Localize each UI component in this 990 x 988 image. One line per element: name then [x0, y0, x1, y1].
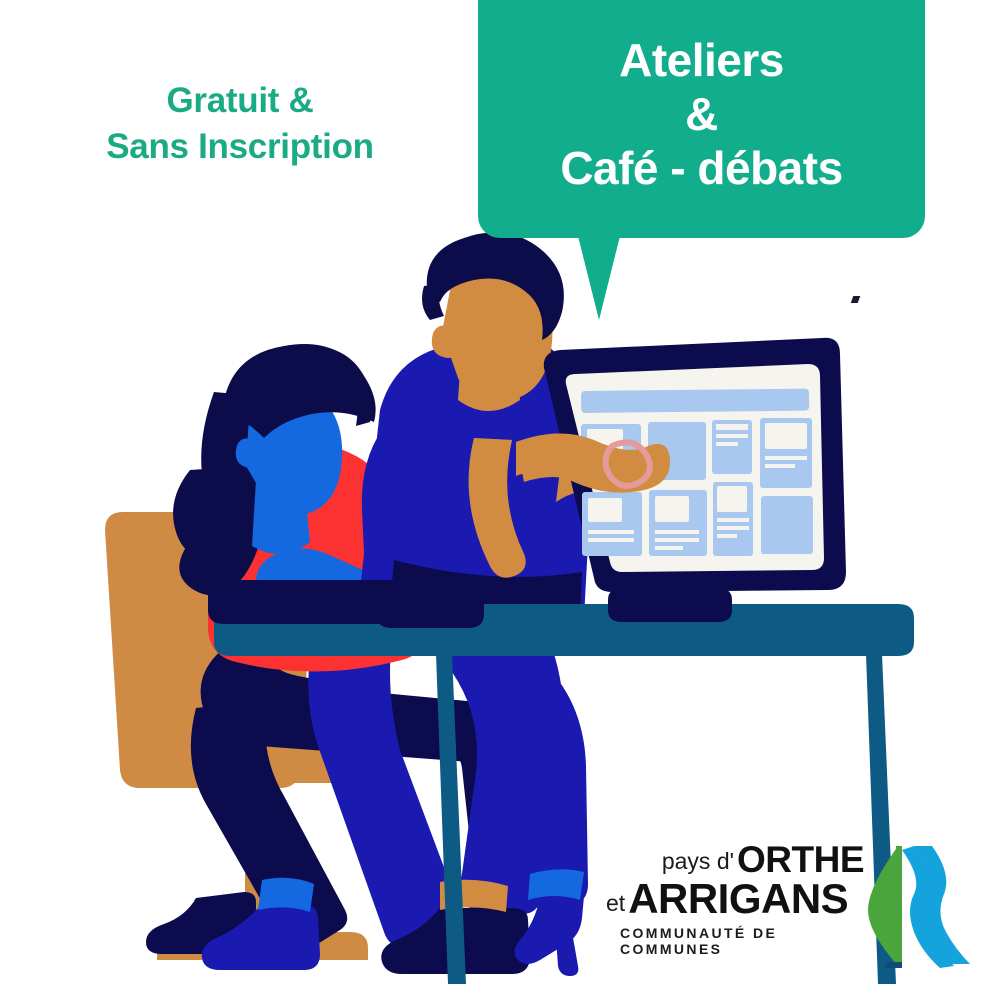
logo-arrigans-text: ARRIGANS: [628, 878, 848, 920]
logo-line-arrigans: et ARRIGANS: [606, 876, 864, 920]
bubble-line-3: Café - débats: [560, 141, 842, 195]
logo-orthe-text: ORTHE: [737, 841, 864, 878]
logo-wordmark: pays d' ORTHE et ARRIGANS COMMUNAUTÉ DE …: [606, 832, 864, 967]
logo-leaf-river-mark: [864, 818, 986, 968]
speech-bubble-tail: [578, 236, 620, 320]
logo-pays-text: pays d': [662, 848, 734, 878]
poster-root: Gratuit & Sans Inscription Ateliers & Ca…: [0, 0, 990, 988]
speech-bubble: Ateliers & Café - débats: [478, 0, 925, 238]
keyboard: [208, 580, 484, 628]
logo-pays-dorthe-et-arrigans: pays d' ORTHE et ARRIGANS COMMUNAUTÉ DE …: [606, 832, 986, 967]
headline-free-no-registration: Gratuit & Sans Inscription: [40, 78, 440, 170]
bubble-line-1: Ateliers: [619, 33, 784, 87]
logo-et-text: et: [606, 890, 625, 920]
bubble-line-2: &: [685, 87, 718, 141]
logo-line-orthe: pays d' ORTHE: [606, 838, 864, 878]
logo-subtitle: COMMUNAUTÉ DE COMMUNES: [620, 925, 864, 957]
